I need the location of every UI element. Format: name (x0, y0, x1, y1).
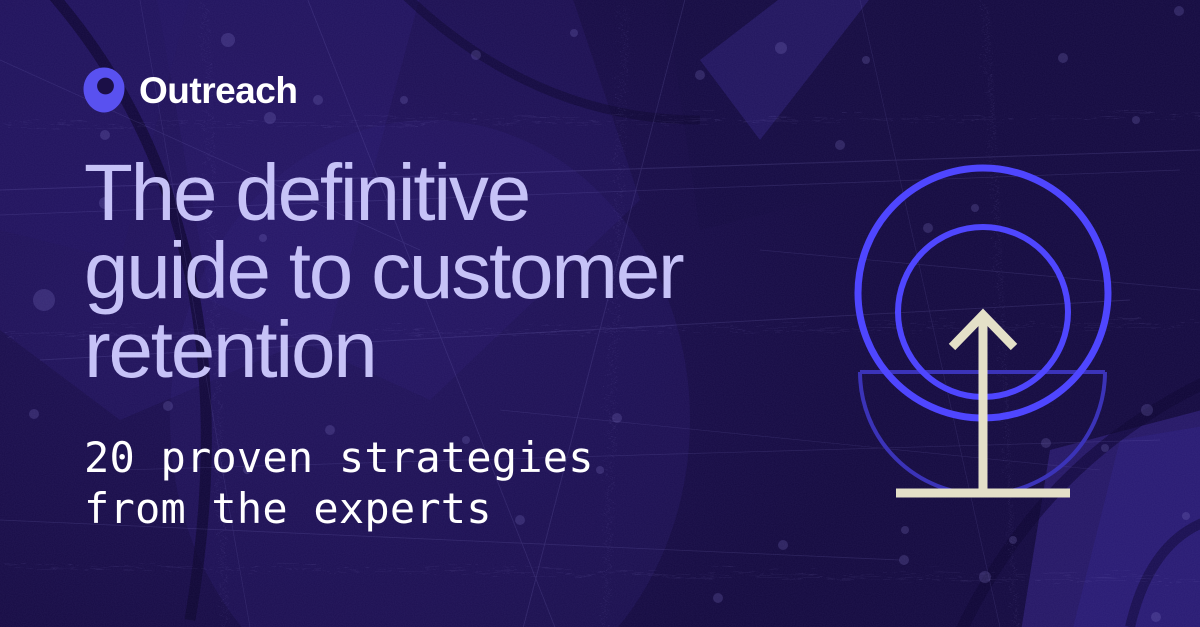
outreach-teardrop-logo-icon (82, 66, 126, 114)
brand-name: Outreach (139, 72, 297, 109)
page-title: The definitive guide to customer retenti… (84, 154, 814, 389)
hero-banner: Outreach The definitive guide to custome… (0, 0, 1200, 627)
target-arrow-illustration (820, 140, 1160, 540)
page-subtitle: 20 proven strategies from the experts (84, 432, 764, 534)
brand-logo[interactable]: Outreach (82, 64, 297, 116)
